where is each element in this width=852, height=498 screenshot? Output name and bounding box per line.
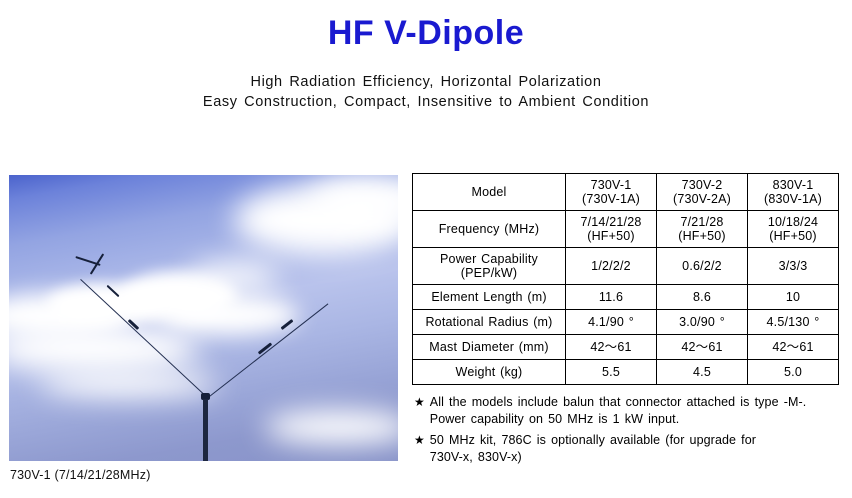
table-row: Model 730V-1 (730V-1A) 730V-2 (730V-2A) … bbox=[413, 174, 839, 211]
row-value-cell: 11.6 bbox=[566, 285, 657, 310]
row-value-cell: 730V-2 (730V-2A) bbox=[657, 174, 748, 211]
row-label-cell: Mast Diameter (mm) bbox=[413, 335, 566, 360]
specifications-table: Model 730V-1 (730V-1A) 730V-2 (730V-2A) … bbox=[412, 173, 839, 385]
row-value-cell: 8.6 bbox=[657, 285, 748, 310]
antenna-mast bbox=[203, 399, 208, 461]
note-item: ★ 50 MHz kit, 786C is optionally availab… bbox=[414, 432, 834, 466]
row-value-cell: 4.1/90 ° bbox=[566, 310, 657, 335]
spec-table-container: Model 730V-1 (730V-1A) 730V-2 (730V-2A) … bbox=[412, 173, 818, 385]
row-value-cell: 3/3/3 bbox=[748, 248, 839, 285]
subtitle-block: High Radiation Efficiency, Horizontal Po… bbox=[0, 72, 852, 112]
row-value: 7/14/21/28 bbox=[568, 215, 654, 229]
row-label: Model bbox=[415, 185, 563, 199]
row-label-cell: Weight (kg) bbox=[413, 360, 566, 385]
row-value: 10/18/24 bbox=[750, 215, 836, 229]
row-value-sub: (HF+50) bbox=[659, 229, 745, 243]
row-label-cell: Power Capability (PEP/kW) bbox=[413, 248, 566, 285]
row-label: Power Capability bbox=[415, 252, 563, 266]
row-label-cell: Element Length (m) bbox=[413, 285, 566, 310]
table-row: Power Capability (PEP/kW) 1/2/2/2 0.6/2/… bbox=[413, 248, 839, 285]
row-value-cell: 42～61 bbox=[657, 335, 748, 360]
row-value-cell: 830V-1 (830V-1A) bbox=[748, 174, 839, 211]
row-value-cell: 42～61 bbox=[566, 335, 657, 360]
row-value: 730V-2 bbox=[659, 178, 745, 192]
row-value-cell: 7/14/21/28 (HF+50) bbox=[566, 211, 657, 248]
row-value-cell: 1/2/2/2 bbox=[566, 248, 657, 285]
photo-caption: 730V-1 (7/14/21/28MHz) bbox=[10, 468, 151, 482]
table-row: Element Length (m) 11.6 8.6 10 bbox=[413, 285, 839, 310]
antenna-photo-image bbox=[9, 175, 398, 461]
row-value-sub: (830V-1A) bbox=[750, 192, 836, 206]
row-value-sub: (HF+50) bbox=[568, 229, 654, 243]
subtitle-line-2: Easy Construction, Compact, Insensitive … bbox=[0, 92, 852, 112]
row-label: Frequency (MHz) bbox=[415, 222, 563, 236]
subtitle-line-1: High Radiation Efficiency, Horizontal Po… bbox=[0, 72, 852, 92]
table-row: Frequency (MHz) 7/14/21/28 (HF+50) 7/21/… bbox=[413, 211, 839, 248]
row-label-sub: (PEP/kW) bbox=[415, 266, 563, 280]
row-value: 830V-1 bbox=[750, 178, 836, 192]
cloud-shape bbox=[189, 263, 279, 289]
row-value: 0.6/2/2 bbox=[659, 259, 745, 273]
row-value-sub: (HF+50) bbox=[750, 229, 836, 243]
row-value-cell: 7/21/28 (HF+50) bbox=[657, 211, 748, 248]
cloud-shape bbox=[264, 410, 398, 444]
row-value-sub: (730V-1A) bbox=[568, 192, 654, 206]
table-row: Mast Diameter (mm) 42～61 42～61 42～61 bbox=[413, 335, 839, 360]
note-text: All the models include balun that connec… bbox=[430, 394, 807, 428]
row-value-cell: 730V-1 (730V-1A) bbox=[566, 174, 657, 211]
row-value: 7/21/28 bbox=[659, 215, 745, 229]
row-value-cell: 0.6/2/2 bbox=[657, 248, 748, 285]
antenna-photo-figure bbox=[9, 175, 398, 461]
row-value: 3/3/3 bbox=[750, 259, 836, 273]
cloud-shape bbox=[9, 325, 199, 373]
row-label-cell: Frequency (MHz) bbox=[413, 211, 566, 248]
star-icon: ★ bbox=[414, 394, 425, 411]
notes-block: ★ All the models include balun that conn… bbox=[414, 394, 834, 470]
row-value-cell: 10 bbox=[748, 285, 839, 310]
row-value-cell: 10/18/24 (HF+50) bbox=[748, 211, 839, 248]
row-label-cell: Model bbox=[413, 174, 566, 211]
row-value: 1/2/2/2 bbox=[568, 259, 654, 273]
page-title: HF V-Dipole bbox=[0, 14, 852, 53]
table-row: Rotational Radius (m) 4.1/90 ° 3.0/90 ° … bbox=[413, 310, 839, 335]
note-line: Power capability on 50 MHz is 1 kW input… bbox=[430, 411, 807, 428]
row-value-cell: 5.5 bbox=[566, 360, 657, 385]
row-value-cell: 3.0/90 ° bbox=[657, 310, 748, 335]
row-value-cell: 4.5 bbox=[657, 360, 748, 385]
row-value-cell: 5.0 bbox=[748, 360, 839, 385]
note-line: All the models include balun that connec… bbox=[430, 394, 807, 411]
row-value-cell: 42～61 bbox=[748, 335, 839, 360]
spec-table-body: Model 730V-1 (730V-1A) 730V-2 (730V-2A) … bbox=[413, 174, 839, 385]
note-item: ★ All the models include balun that conn… bbox=[414, 394, 834, 428]
row-value-cell: 4.5/130 ° bbox=[748, 310, 839, 335]
cloud-shape bbox=[159, 295, 299, 335]
row-value-sub: (730V-2A) bbox=[659, 192, 745, 206]
note-line: 730V-x, 830V-x) bbox=[430, 449, 756, 466]
note-line: 50 MHz kit, 786C is optionally available… bbox=[430, 432, 756, 449]
row-label-cell: Rotational Radius (m) bbox=[413, 310, 566, 335]
star-icon: ★ bbox=[414, 432, 425, 449]
row-value: 730V-1 bbox=[568, 178, 654, 192]
table-row: Weight (kg) 5.5 4.5 5.0 bbox=[413, 360, 839, 385]
note-text: 50 MHz kit, 786C is optionally available… bbox=[430, 432, 756, 466]
